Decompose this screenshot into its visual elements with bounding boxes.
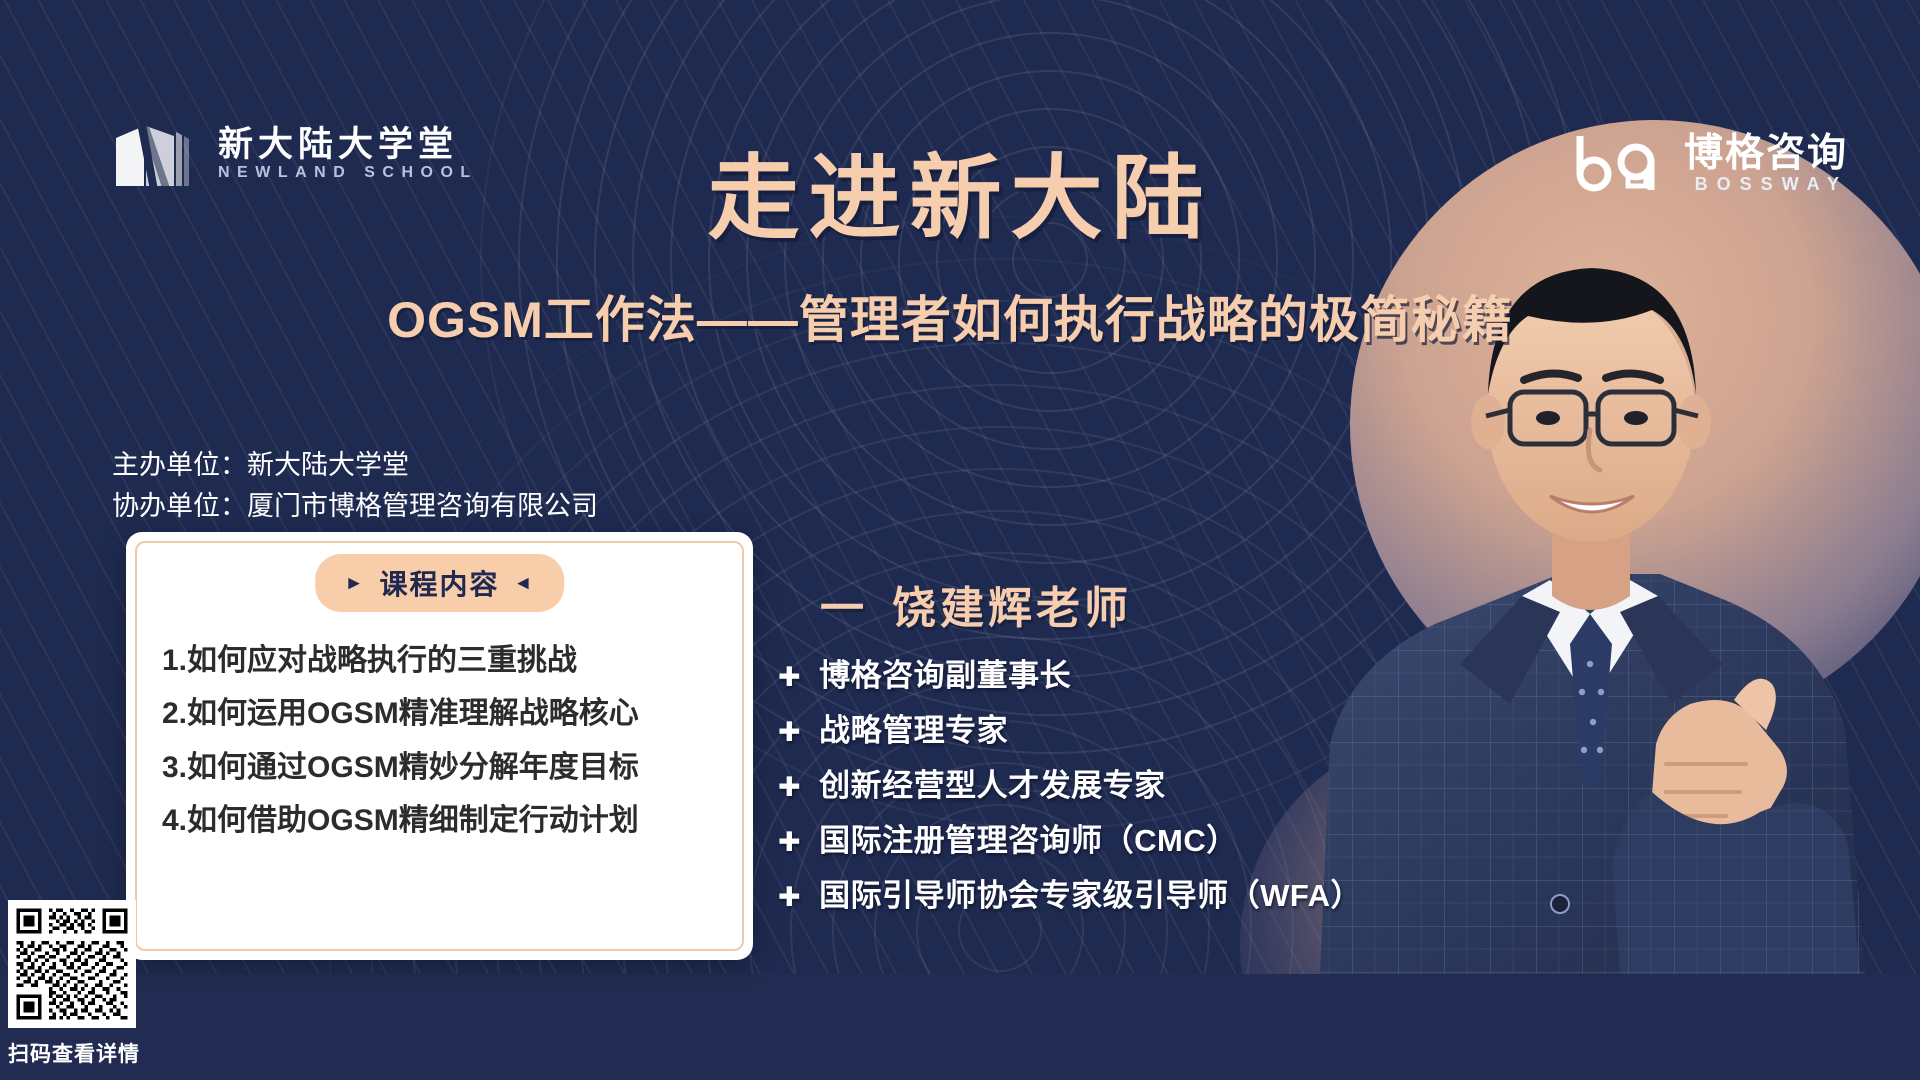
poster-subtitle: OGSM工作法——管理者如何执行战略的极简秘籍 bbox=[0, 290, 1920, 351]
course-content-badge: ► 课程内容 ◄ bbox=[315, 554, 565, 612]
triangle-right-icon: ► bbox=[345, 574, 366, 593]
organizer-block: 主办单位：新大陆大学堂 协办单位：厦门市博格管理咨询有限公司 bbox=[112, 445, 598, 527]
list-item: 4.如何借助OGSM精细制定行动计划 bbox=[162, 802, 731, 840]
qr-code-icon[interactable] bbox=[8, 900, 136, 1028]
event-poster: 新大陆大学堂 NEWLAND SCHOOL 博格咨询 BOSSWAY 走进新大陆… bbox=[0, 0, 1920, 1080]
plus-icon: ✚ bbox=[778, 664, 801, 691]
course-badge-label: 课程内容 bbox=[379, 563, 499, 603]
plus-icon: ✚ bbox=[778, 719, 801, 746]
list-item: ✚ 国际引导师协会专家级引导师（WFA） bbox=[778, 870, 1362, 915]
host-line: 主办单位：新大陆大学堂 bbox=[112, 445, 598, 486]
credential-label: 博格咨询副董事长 bbox=[819, 650, 1071, 695]
plus-icon: ✚ bbox=[778, 829, 801, 856]
plus-icon: ✚ bbox=[778, 884, 801, 911]
list-item: ✚ 战略管理专家 bbox=[778, 705, 1362, 750]
plus-icon: ✚ bbox=[778, 774, 801, 801]
bottom-band bbox=[0, 974, 1920, 1080]
poster-main-title: 走进新大陆 bbox=[0, 152, 1920, 248]
course-item-list: 1.如何应对战略执行的三重挑战 2.如何运用OGSM精准理解战略核心 3.如何通… bbox=[162, 642, 731, 841]
triangle-left-icon: ◄ bbox=[514, 574, 535, 593]
speaker-name-block: 一 饶建辉老师 bbox=[820, 572, 1132, 636]
speaker-dash: 一 bbox=[820, 572, 868, 636]
list-item: ✚ 创新经营型人才发展专家 bbox=[778, 760, 1362, 805]
credential-label: 国际引导师协会专家级引导师（WFA） bbox=[819, 870, 1362, 915]
list-item: 1.如何应对战略执行的三重挑战 bbox=[162, 642, 731, 680]
list-item: ✚ 国际注册管理咨询师（CMC） bbox=[778, 815, 1362, 860]
cohost-line: 协办单位：厦门市博格管理咨询有限公司 bbox=[112, 486, 598, 527]
list-item: ✚ 博格咨询副董事长 bbox=[778, 650, 1362, 695]
credential-label: 战略管理专家 bbox=[819, 705, 1008, 750]
speaker-name: 饶建辉老师 bbox=[892, 572, 1132, 636]
credential-label: 创新经营型人才发展专家 bbox=[819, 760, 1166, 805]
speaker-credentials-list: ✚ 博格咨询副董事长 ✚ 战略管理专家 ✚ 创新经营型人才发展专家 ✚ 国际注册… bbox=[778, 650, 1362, 915]
list-item: 2.如何运用OGSM精准理解战略核心 bbox=[162, 695, 731, 733]
list-item: 3.如何通过OGSM精妙分解年度目标 bbox=[162, 749, 731, 787]
qr-caption: 扫码查看详情 bbox=[8, 1038, 148, 1068]
course-content-card: ► 课程内容 ◄ 1.如何应对战略执行的三重挑战 2.如何运用OGSM精准理解战… bbox=[126, 532, 753, 960]
credential-label: 国际注册管理咨询师（CMC） bbox=[819, 815, 1238, 860]
qr-code-block[interactable]: 扫码查看详情 bbox=[8, 900, 148, 1068]
